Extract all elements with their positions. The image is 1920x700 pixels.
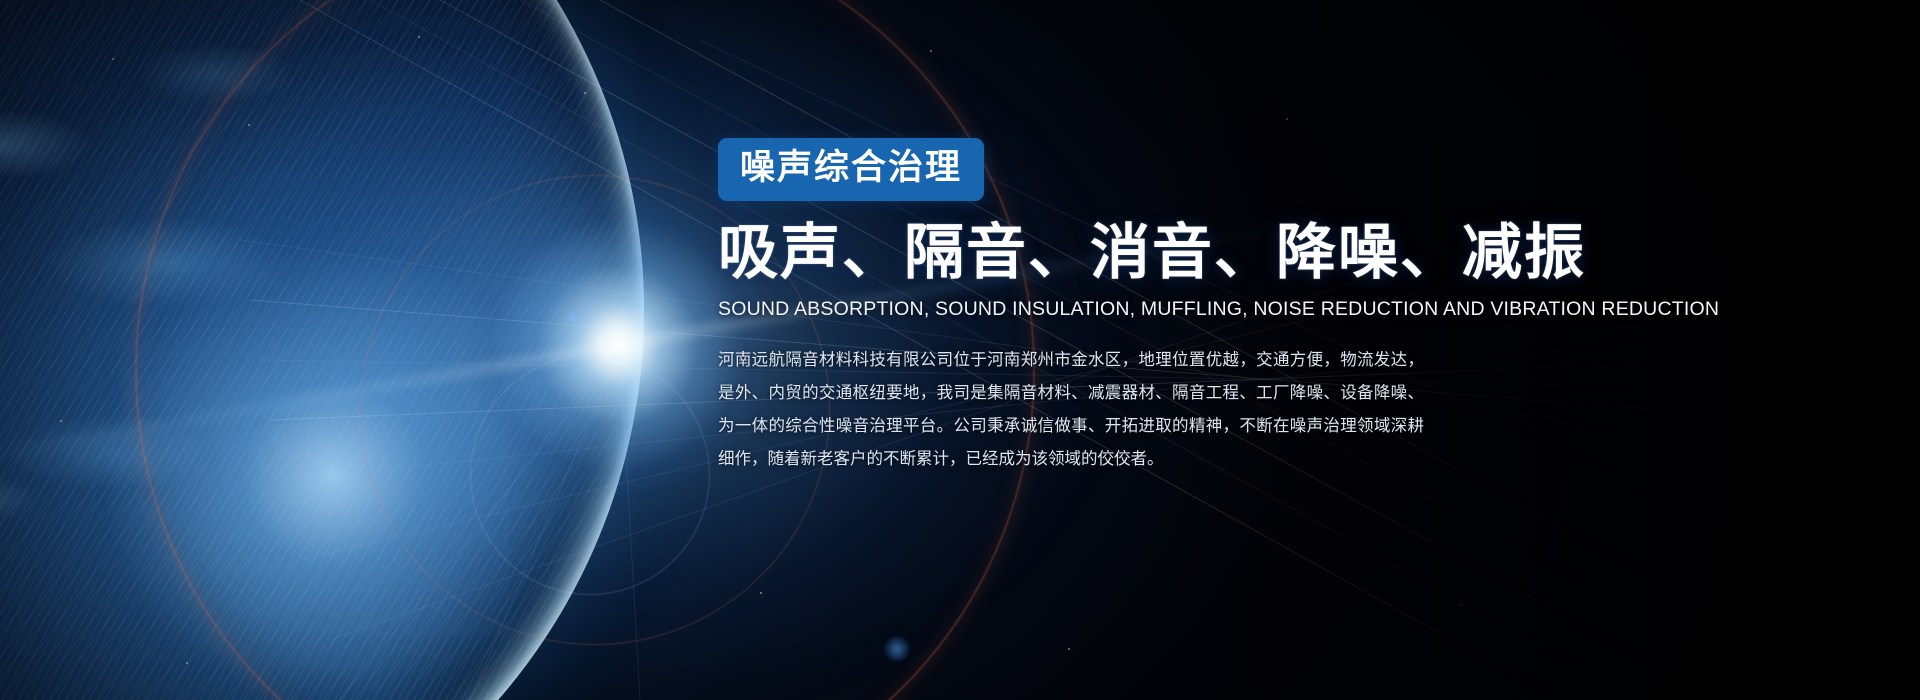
banner-subtitle-english: SOUND ABSORPTION, SOUND INSULATION, MUFF… bbox=[718, 298, 1878, 321]
hero-banner: 噪声综合治理 吸声、隔音、消音、降噪、减振 SOUND ABSORPTION, … bbox=[0, 0, 1920, 700]
banner-description-text: 河南远航隔音材料科技有限公司位于河南郑州市金水区，地理位置优越，交通方便，物流发… bbox=[718, 343, 1424, 475]
category-badge: 噪声综合治理 bbox=[718, 138, 984, 201]
banner-description: 河南远航隔音材料科技有限公司位于河南郑州市金水区，地理位置优越，交通方便，物流发… bbox=[718, 343, 1424, 475]
banner-content: 噪声综合治理 吸声、隔音、消音、降噪、减振 SOUND ABSORPTION, … bbox=[718, 138, 1878, 475]
banner-headline: 吸声、隔音、消音、降噪、减振 bbox=[718, 221, 1878, 286]
